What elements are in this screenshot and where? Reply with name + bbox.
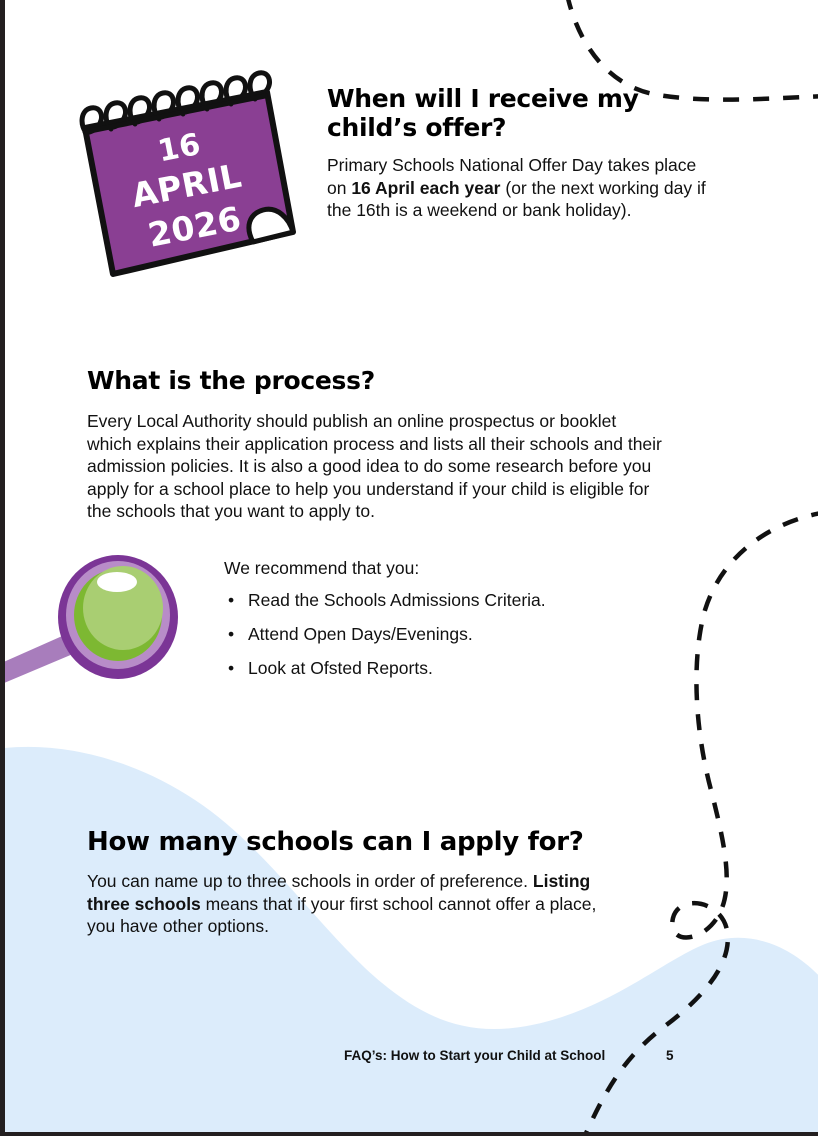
- section-title-process: What is the process?: [87, 366, 667, 396]
- list-item: • Attend Open Days/Evenings.: [224, 623, 694, 645]
- list-item-label: Read the Schools Admissions Criteria.: [248, 590, 546, 610]
- section-title-how-many-schools: How many schools can I apply for?: [87, 826, 667, 858]
- list-item-label: Look at Ofsted Reports.: [248, 658, 433, 678]
- list-item: • Read the Schools Admissions Criteria.: [224, 589, 694, 611]
- section-body-offer-day: Primary Schools National Offer Day takes…: [327, 154, 707, 222]
- list-item: • Look at Ofsted Reports.: [224, 657, 694, 679]
- section-offer-day: When will I receive my child’s offer? Pr…: [327, 84, 727, 222]
- plain-text: Every Local Authority should publish an …: [87, 411, 662, 521]
- emphasis-text: 16 April each year: [351, 178, 500, 198]
- page-footer: FAQ’s: How to Start your Child at School…: [5, 1048, 818, 1070]
- document-page: 16 APRIL 2026 When will I r: [0, 0, 818, 1136]
- bullet-icon: •: [228, 623, 234, 645]
- footer-title: FAQ’s: How to Start your Child at School: [344, 1048, 605, 1063]
- recommendation-block: We recommend that you: • Read the School…: [224, 557, 694, 691]
- section-body-how-many-schools: You can name up to three schools in orde…: [87, 870, 627, 938]
- plain-text: You can name up to three schools in orde…: [87, 871, 533, 891]
- section-process: What is the process? Every Local Authori…: [87, 366, 667, 523]
- section-title-offer-day: When will I receive my child’s offer?: [327, 84, 727, 142]
- page-number: 5: [666, 1048, 674, 1063]
- recommendation-list: • Read the Schools Admissions Criteria. …: [224, 589, 694, 679]
- bullet-icon: •: [228, 589, 234, 611]
- section-how-many-schools: How many schools can I apply for? You ca…: [87, 826, 667, 938]
- page-content: When will I receive my child’s offer? Pr…: [5, 0, 818, 1132]
- section-body-process: Every Local Authority should publish an …: [87, 410, 662, 523]
- bullet-icon: •: [228, 657, 234, 679]
- list-item-label: Attend Open Days/Evenings.: [248, 624, 473, 644]
- recommendation-lead: We recommend that you:: [224, 557, 694, 579]
